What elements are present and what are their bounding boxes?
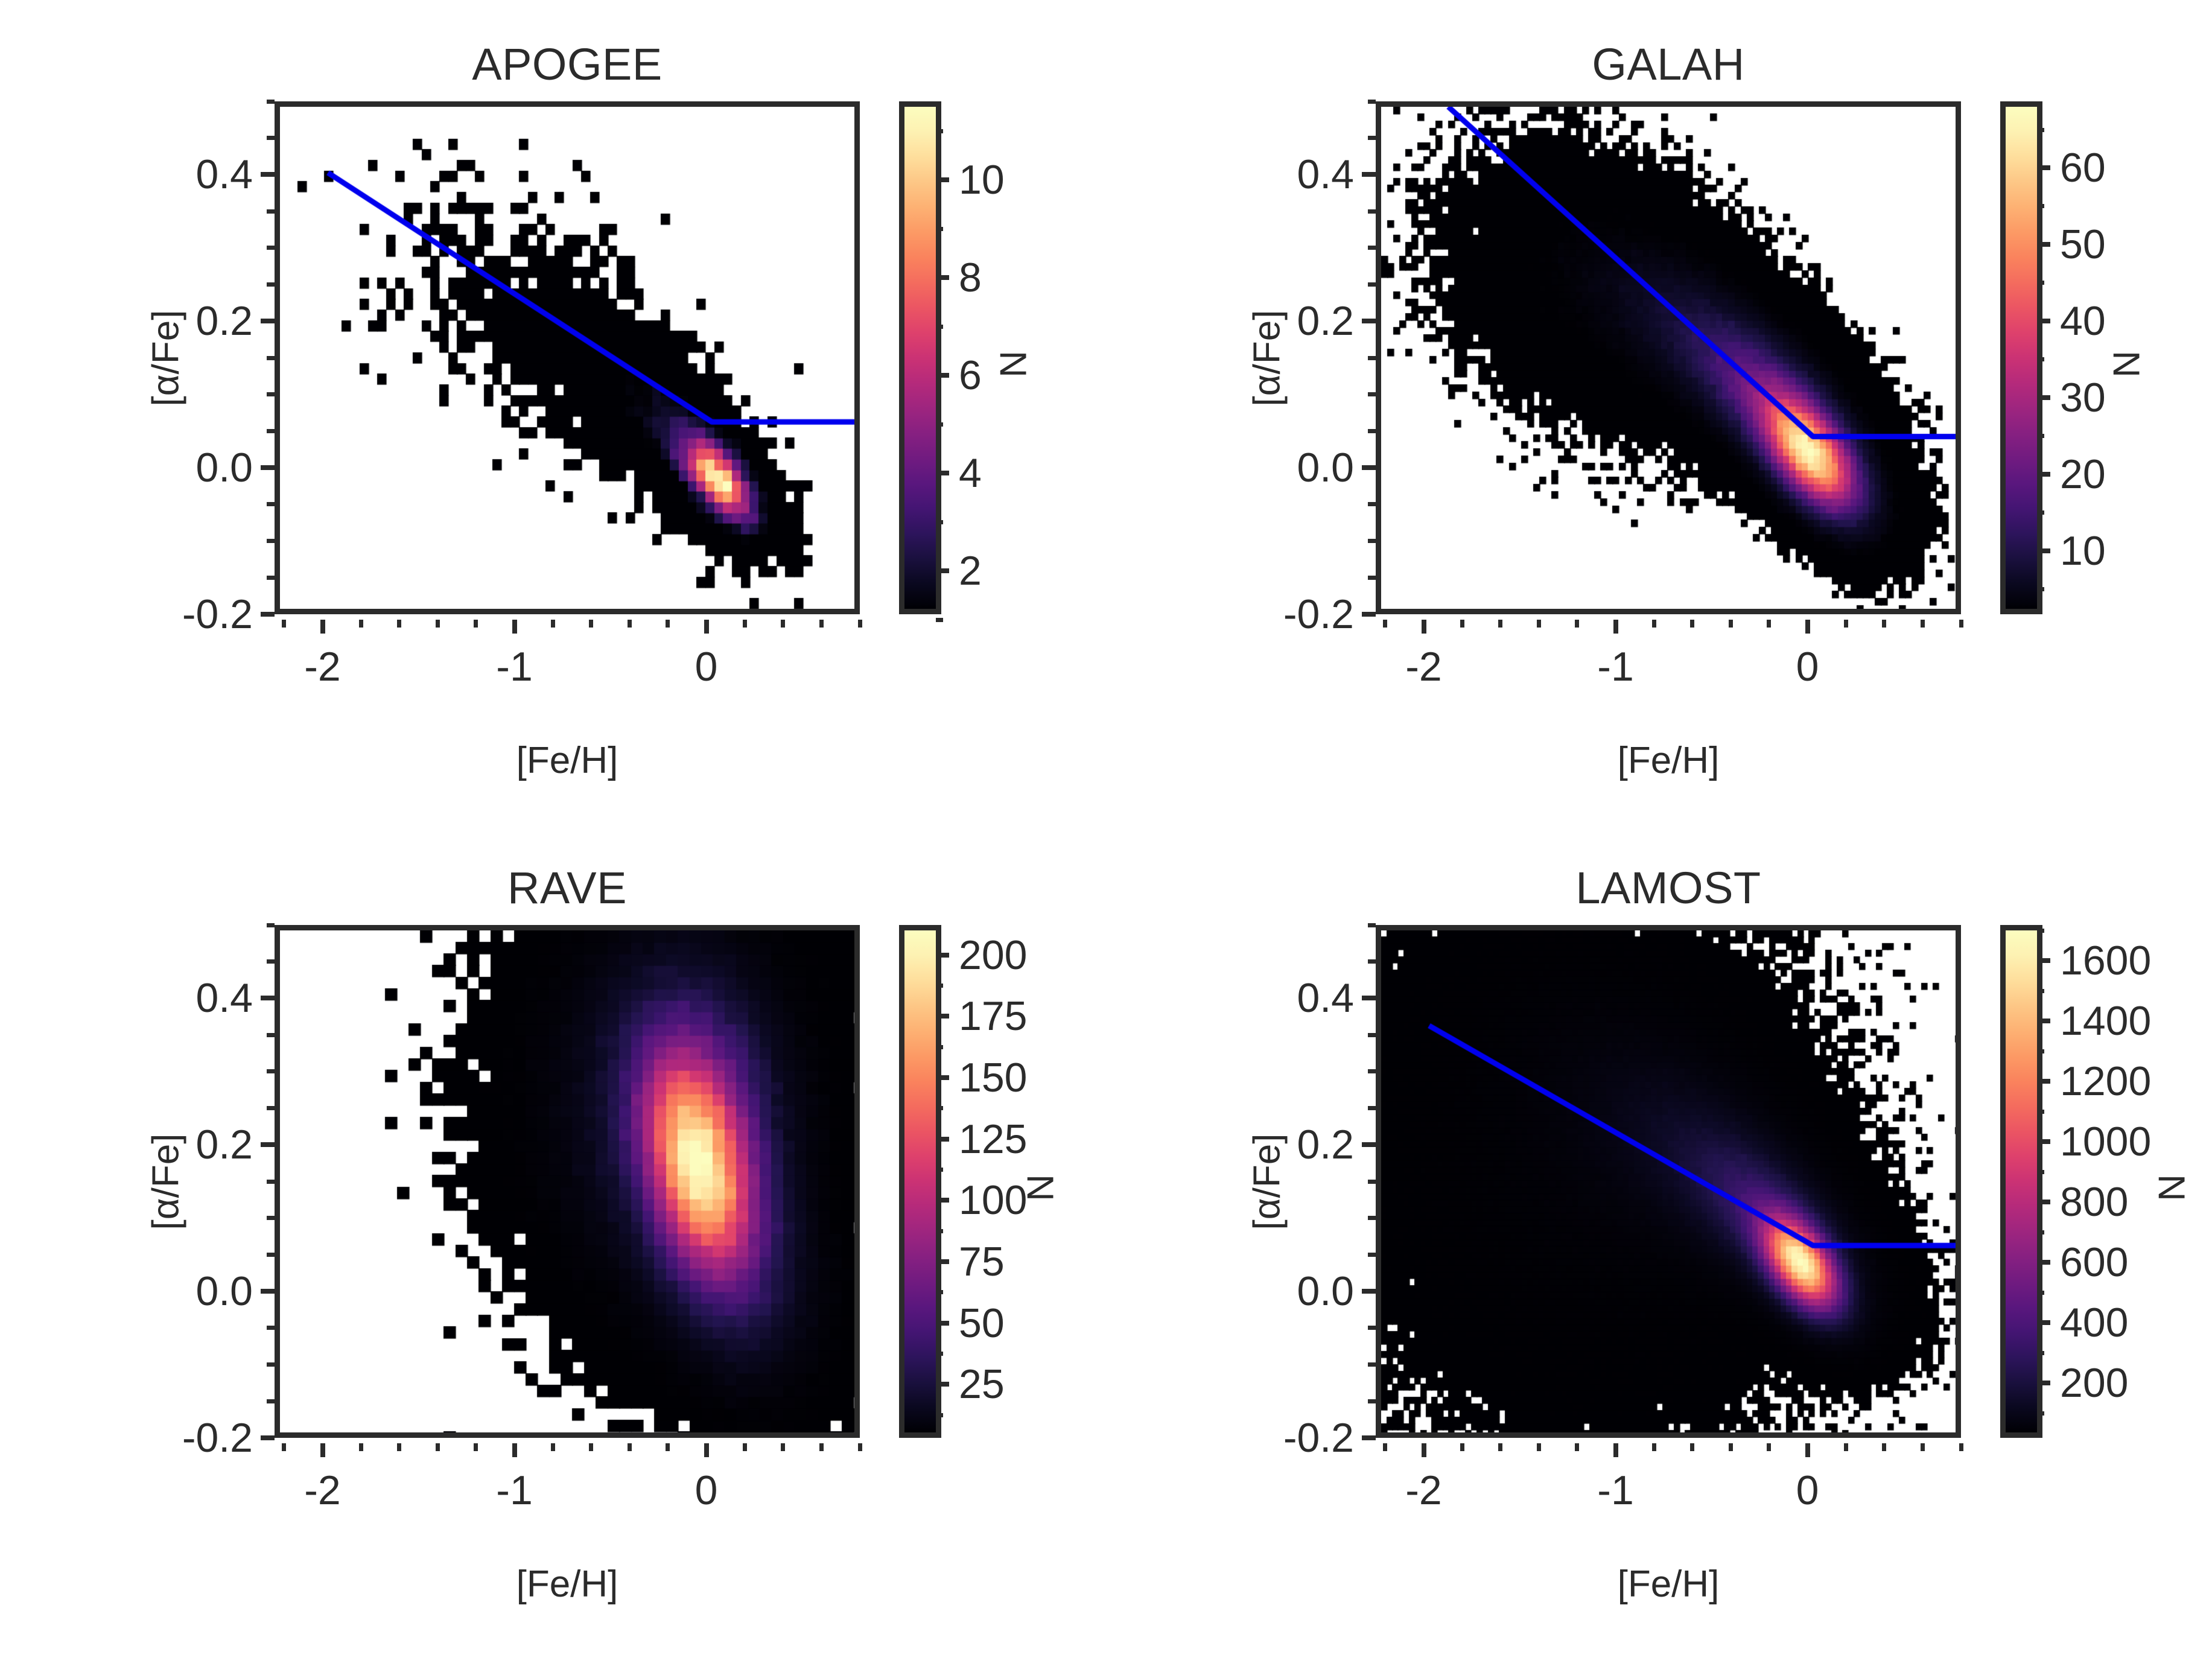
x-major-tick (1422, 1443, 1426, 1457)
x-tick-label: -1 (496, 643, 532, 690)
x-tick-label: -2 (1405, 1467, 1441, 1514)
colorbar-minor-tick (936, 984, 943, 988)
x-minor-tick (1575, 620, 1579, 628)
colorbar-tick-label: 20 (2060, 451, 2106, 498)
x-minor-tick (1844, 1443, 1848, 1451)
colorbar-major-tick (936, 275, 949, 280)
x-minor-tick (1959, 620, 1963, 628)
x-minor-tick (628, 1443, 632, 1451)
density-heatmap-galah (1381, 107, 1961, 614)
y-minor-tick (1368, 429, 1376, 433)
y-minor-tick (1368, 100, 1376, 104)
colorbar-tick-label: 150 (959, 1054, 1027, 1101)
colorbar-minor-tick (2037, 1230, 2044, 1235)
colorbar-major-tick (936, 1075, 949, 1080)
x-minor-tick (666, 1443, 670, 1451)
density-heatmap-rave (280, 930, 860, 1438)
colorbar-minor-tick (936, 325, 943, 329)
colorbar-major-tick (2037, 472, 2050, 477)
colorbar-major-tick (936, 1014, 949, 1019)
y-tick-label: -0.2 (1204, 1414, 1354, 1461)
colorbar-minor-tick (2037, 128, 2044, 132)
x-axis-label-rave: [Fe/H] (516, 1563, 618, 1606)
colorbar-major-tick (936, 471, 949, 475)
x-minor-tick (1844, 620, 1848, 628)
y-tick-label: 0.0 (103, 1268, 253, 1315)
y-minor-tick (267, 1033, 275, 1037)
x-major-tick (1613, 620, 1618, 634)
y-axis-label-rave: [α/Fe] (145, 1092, 188, 1273)
x-minor-tick (359, 1443, 363, 1451)
y-major-tick (1362, 172, 1376, 177)
panel-title-lamost: LAMOST (1376, 866, 1961, 911)
x-tick-label: -2 (1405, 643, 1441, 690)
colorbar-lamost: 2004006008001000120014001600 (2000, 925, 2042, 1438)
x-minor-tick (282, 620, 286, 628)
x-minor-tick (1652, 1443, 1656, 1451)
y-minor-tick (267, 429, 275, 433)
x-minor-tick (781, 1443, 785, 1451)
x-minor-tick (397, 1443, 401, 1451)
y-tick-label: 0.4 (1204, 974, 1354, 1022)
y-major-tick (261, 319, 275, 323)
y-major-tick (1362, 1435, 1376, 1440)
colorbar-title-galah: N (2106, 304, 2149, 425)
y-tick-label: 0.4 (1204, 151, 1354, 198)
colorbar-major-tick (2037, 1320, 2050, 1325)
colorbar-tick-label: 400 (2060, 1299, 2128, 1346)
y-minor-tick (1368, 959, 1376, 964)
colorbar-tick-label: 600 (2060, 1239, 2128, 1286)
colorbar-gradient-rave (904, 930, 936, 1432)
colorbar-minor-tick (936, 129, 943, 133)
colorbar-minor-tick (936, 520, 943, 524)
y-minor-tick (1368, 1253, 1376, 1257)
colorbar-major-tick (2037, 165, 2050, 170)
colorbar-tick-label: 8 (959, 254, 982, 301)
y-minor-tick (267, 282, 275, 287)
y-tick-label: 0.0 (1204, 444, 1354, 491)
x-tick-label: -1 (496, 1467, 532, 1514)
x-axis-label-galah: [Fe/H] (1618, 739, 1720, 782)
x-major-tick (512, 1443, 517, 1457)
colorbar-major-tick (2037, 1019, 2050, 1023)
colorbar-tick-label: 1400 (2060, 997, 2151, 1044)
x-minor-tick (1498, 1443, 1502, 1451)
y-major-tick (261, 612, 275, 617)
colorbar-gradient-apogee (904, 107, 936, 609)
x-minor-tick (1460, 620, 1464, 628)
colorbar-major-tick (936, 1137, 949, 1142)
plot-area-apogee (275, 101, 860, 614)
colorbar-tick-label: 800 (2060, 1178, 2128, 1225)
y-major-tick (1362, 1142, 1376, 1147)
y-major-tick (1362, 612, 1376, 617)
y-major-tick (261, 172, 275, 177)
y-tick-label: -0.2 (103, 1414, 253, 1461)
colorbar-tick-label: 4 (959, 450, 982, 497)
y-minor-tick (267, 1180, 275, 1184)
colorbar-minor-tick (936, 422, 943, 427)
x-minor-tick (589, 620, 593, 628)
y-major-tick (1362, 1289, 1376, 1294)
x-minor-tick (666, 620, 670, 628)
colorbar-minor-tick (936, 1413, 943, 1417)
y-minor-tick (267, 1326, 275, 1330)
y-minor-tick (267, 576, 275, 580)
x-minor-tick (551, 1443, 555, 1451)
x-minor-tick (1729, 620, 1733, 628)
x-minor-tick (1383, 1443, 1387, 1451)
x-minor-tick (1690, 1443, 1694, 1451)
colorbar-tick-label: 200 (2060, 1359, 2128, 1406)
colorbar-tick-label: 10 (959, 156, 1005, 203)
y-major-tick (261, 1142, 275, 1147)
y-minor-tick (267, 539, 275, 543)
colorbar-tick-label: 50 (959, 1300, 1005, 1347)
colorbar-major-tick (936, 1259, 949, 1264)
y-minor-tick (1368, 539, 1376, 543)
x-minor-tick (819, 620, 824, 628)
colorbar-minor-tick (2037, 434, 2044, 438)
y-minor-tick (267, 356, 275, 360)
y-major-tick (261, 996, 275, 1000)
y-axis-label-lamost: [α/Fe] (1246, 1092, 1289, 1273)
colorbar-tick-label: 60 (2060, 144, 2106, 191)
x-minor-tick (1921, 1443, 1925, 1451)
y-minor-tick (1368, 502, 1376, 506)
x-major-tick (704, 620, 709, 634)
y-minor-tick (1368, 576, 1376, 580)
x-minor-tick (551, 620, 555, 628)
x-minor-tick (436, 1443, 440, 1451)
y-minor-tick (1368, 136, 1376, 140)
y-major-tick (1362, 465, 1376, 470)
y-minor-tick (267, 392, 275, 396)
y-major-tick (1362, 996, 1376, 1000)
y-tick-label: 0.4 (103, 974, 253, 1022)
y-minor-tick (267, 502, 275, 506)
colorbar-minor-tick (936, 1290, 943, 1294)
density-heatmap-apogee (280, 107, 860, 614)
panel-lamost: LAMOST 0.40.20.0-0.2-2-10 [α/Fe] [Fe/H] … (1204, 854, 2193, 1656)
colorbar-major-tick (2037, 1139, 2050, 1144)
x-minor-tick (1729, 1443, 1733, 1451)
y-tick-label: -0.2 (1204, 591, 1354, 638)
x-tick-label: -1 (1597, 643, 1633, 690)
y-minor-tick (1368, 1362, 1376, 1367)
colorbar-tick-label: 1000 (2060, 1118, 2151, 1165)
x-axis-label-apogee: [Fe/H] (516, 739, 618, 782)
density-heatmap-lamost (1381, 930, 1961, 1438)
x-minor-tick (1460, 1443, 1464, 1451)
x-tick-label: -1 (1597, 1467, 1633, 1514)
y-tick-label: 0.0 (103, 444, 253, 491)
x-major-tick (320, 620, 325, 634)
x-minor-tick (743, 1443, 747, 1451)
x-tick-label: 0 (695, 643, 718, 690)
colorbar-tick-label: 6 (959, 352, 982, 399)
y-minor-tick (267, 100, 275, 104)
x-minor-tick (1537, 620, 1541, 628)
colorbar-minor-tick (2037, 281, 2044, 285)
panel-galah: GALAH 0.40.20.0-0.2-2-10 [α/Fe] [Fe/H] 1… (1204, 24, 2193, 827)
colorbar-major-tick (936, 953, 949, 958)
colorbar-minor-tick (2037, 1411, 2044, 1416)
y-minor-tick (267, 1069, 275, 1073)
colorbar-minor-tick (2037, 1170, 2044, 1174)
plot-area-rave (275, 925, 860, 1438)
colorbar-minor-tick (2037, 204, 2044, 208)
y-minor-tick (1368, 923, 1376, 927)
colorbar-tick-label: 1200 (2060, 1058, 2151, 1105)
y-minor-tick (1368, 392, 1376, 396)
x-major-tick (512, 620, 517, 634)
y-minor-tick (1368, 209, 1376, 214)
figure-grid: APOGEE 0.40.20.0-0.2-2-10 [α/Fe] [Fe/H] … (0, 0, 2212, 1678)
colorbar-major-tick (2037, 1381, 2050, 1385)
colorbar-tick-label: 40 (2060, 297, 2106, 345)
y-tick-label: 0.4 (103, 151, 253, 198)
colorbar-major-tick (2037, 242, 2050, 247)
x-major-tick (704, 1443, 709, 1457)
colorbar-title-lamost: N (2151, 1128, 2194, 1248)
x-minor-tick (359, 620, 363, 628)
colorbar-major-tick (936, 1198, 949, 1203)
y-major-tick (261, 465, 275, 470)
colorbar-tick-label: 125 (959, 1116, 1027, 1163)
colorbar-galah: 102030405060 (2000, 101, 2042, 614)
x-minor-tick (1383, 620, 1387, 628)
colorbar-minor-tick (2037, 989, 2044, 993)
colorbar-tick-label: 1600 (2060, 937, 2151, 984)
colorbar-major-tick (2037, 548, 2050, 553)
colorbar-major-tick (2037, 1079, 2050, 1084)
y-major-tick (261, 1289, 275, 1294)
colorbar-major-tick (936, 1321, 949, 1326)
x-minor-tick (858, 620, 862, 628)
colorbar-title-rave: N (1020, 1128, 1063, 1248)
y-minor-tick (1368, 282, 1376, 287)
colorbar-tick-label: 30 (2060, 374, 2106, 421)
colorbar-major-tick (2037, 395, 2050, 400)
x-tick-label: 0 (1796, 1467, 1819, 1514)
colorbar-tick-label: 10 (2060, 527, 2106, 574)
x-major-tick (1422, 620, 1426, 634)
colorbar-minor-tick (936, 1168, 943, 1172)
x-minor-tick (1882, 620, 1886, 628)
colorbar-major-tick (2037, 958, 2050, 963)
x-tick-label: -2 (304, 1467, 340, 1514)
colorbar-tick-label: 75 (959, 1238, 1005, 1285)
y-minor-tick (1368, 246, 1376, 250)
x-minor-tick (1652, 620, 1656, 628)
colorbar-major-tick (2037, 319, 2050, 323)
colorbar-rave: 255075100125150175200 (899, 925, 941, 1438)
x-minor-tick (1882, 1443, 1886, 1451)
y-major-tick (1362, 319, 1376, 323)
colorbar-major-tick (936, 177, 949, 182)
colorbar-major-tick (2037, 1260, 2050, 1265)
x-minor-tick (397, 620, 401, 628)
y-minor-tick (1368, 1033, 1376, 1037)
x-minor-tick (743, 620, 747, 628)
panel-title-galah: GALAH (1376, 42, 1961, 87)
x-major-tick (1805, 620, 1810, 634)
colorbar-minor-tick (2037, 510, 2044, 515)
x-major-tick (1805, 1443, 1810, 1457)
y-axis-label-galah: [α/Fe] (1246, 268, 1289, 449)
colorbar-minor-tick (2037, 1291, 2044, 1295)
panel-apogee: APOGEE 0.40.20.0-0.2-2-10 [α/Fe] [Fe/H] … (103, 24, 1092, 827)
x-minor-tick (1959, 1443, 1963, 1451)
colorbar-tick-label: 25 (959, 1361, 1005, 1408)
panel-rave: RAVE 0.40.20.0-0.2-2-10 [α/Fe] [Fe/H] 25… (103, 854, 1092, 1656)
colorbar-minor-tick (2037, 587, 2044, 591)
x-minor-tick (436, 620, 440, 628)
x-minor-tick (819, 1443, 824, 1451)
x-minor-tick (1575, 1443, 1579, 1451)
x-minor-tick (1767, 620, 1771, 628)
x-tick-label: 0 (695, 1467, 718, 1514)
colorbar-tick-label: 175 (959, 993, 1027, 1040)
colorbar-tick-label: 200 (959, 932, 1027, 979)
colorbar-minor-tick (936, 227, 943, 231)
colorbar-minor-tick (936, 618, 943, 622)
y-minor-tick (267, 246, 275, 250)
x-minor-tick (589, 1443, 593, 1451)
y-minor-tick (267, 1253, 275, 1257)
x-minor-tick (474, 620, 478, 628)
colorbar-minor-tick (936, 1352, 943, 1356)
y-major-tick (261, 1435, 275, 1440)
x-minor-tick (1690, 620, 1694, 628)
y-minor-tick (1368, 1399, 1376, 1403)
colorbar-tick-label: 2 (959, 547, 982, 594)
y-minor-tick (1368, 1069, 1376, 1073)
colorbar-major-tick (2037, 1200, 2050, 1204)
colorbar-title-apogee: N (993, 304, 1035, 425)
x-minor-tick (858, 1443, 862, 1451)
colorbar-gradient-lamost (2006, 930, 2037, 1432)
x-axis-label-lamost: [Fe/H] (1618, 1563, 1720, 1606)
y-minor-tick (267, 136, 275, 140)
y-minor-tick (267, 1106, 275, 1110)
colorbar-minor-tick (2037, 929, 2044, 933)
colorbar-minor-tick (2037, 1110, 2044, 1114)
x-minor-tick (1537, 1443, 1541, 1451)
y-minor-tick (267, 1362, 275, 1367)
y-minor-tick (1368, 356, 1376, 360)
plot-area-lamost (1376, 925, 1961, 1438)
y-minor-tick (267, 959, 275, 964)
y-minor-tick (1368, 1180, 1376, 1184)
x-minor-tick (628, 620, 632, 628)
x-minor-tick (1921, 620, 1925, 628)
y-minor-tick (267, 923, 275, 927)
y-minor-tick (1368, 1216, 1376, 1220)
colorbar-tick-label: 50 (2060, 221, 2106, 268)
colorbar-minor-tick (2037, 1049, 2044, 1054)
y-axis-label-apogee: [α/Fe] (145, 268, 188, 449)
colorbar-major-tick (936, 1382, 949, 1387)
colorbar-minor-tick (936, 1229, 943, 1233)
colorbar-gradient-galah (2006, 107, 2037, 609)
colorbar-apogee: 246810 (899, 101, 941, 614)
y-minor-tick (267, 1399, 275, 1403)
x-major-tick (1613, 1443, 1618, 1457)
plot-area-galah (1376, 101, 1961, 614)
y-minor-tick (267, 1216, 275, 1220)
colorbar-tick-label: 100 (959, 1177, 1027, 1224)
colorbar-major-tick (936, 373, 949, 378)
x-minor-tick (1767, 1443, 1771, 1451)
x-major-tick (320, 1443, 325, 1457)
x-minor-tick (474, 1443, 478, 1451)
x-minor-tick (781, 620, 785, 628)
y-minor-tick (1368, 1326, 1376, 1330)
colorbar-minor-tick (2037, 357, 2044, 361)
panel-title-apogee: APOGEE (275, 42, 860, 87)
panel-title-rave: RAVE (275, 866, 860, 911)
colorbar-major-tick (936, 568, 949, 573)
x-minor-tick (282, 1443, 286, 1451)
x-tick-label: -2 (304, 643, 340, 690)
colorbar-minor-tick (936, 1045, 943, 1049)
y-minor-tick (267, 209, 275, 214)
x-minor-tick (1498, 620, 1502, 628)
y-tick-label: 0.0 (1204, 1268, 1354, 1315)
x-tick-label: 0 (1796, 643, 1819, 690)
colorbar-minor-tick (936, 1106, 943, 1110)
y-tick-label: -0.2 (103, 591, 253, 638)
y-minor-tick (1368, 1106, 1376, 1110)
colorbar-minor-tick (2037, 1351, 2044, 1355)
